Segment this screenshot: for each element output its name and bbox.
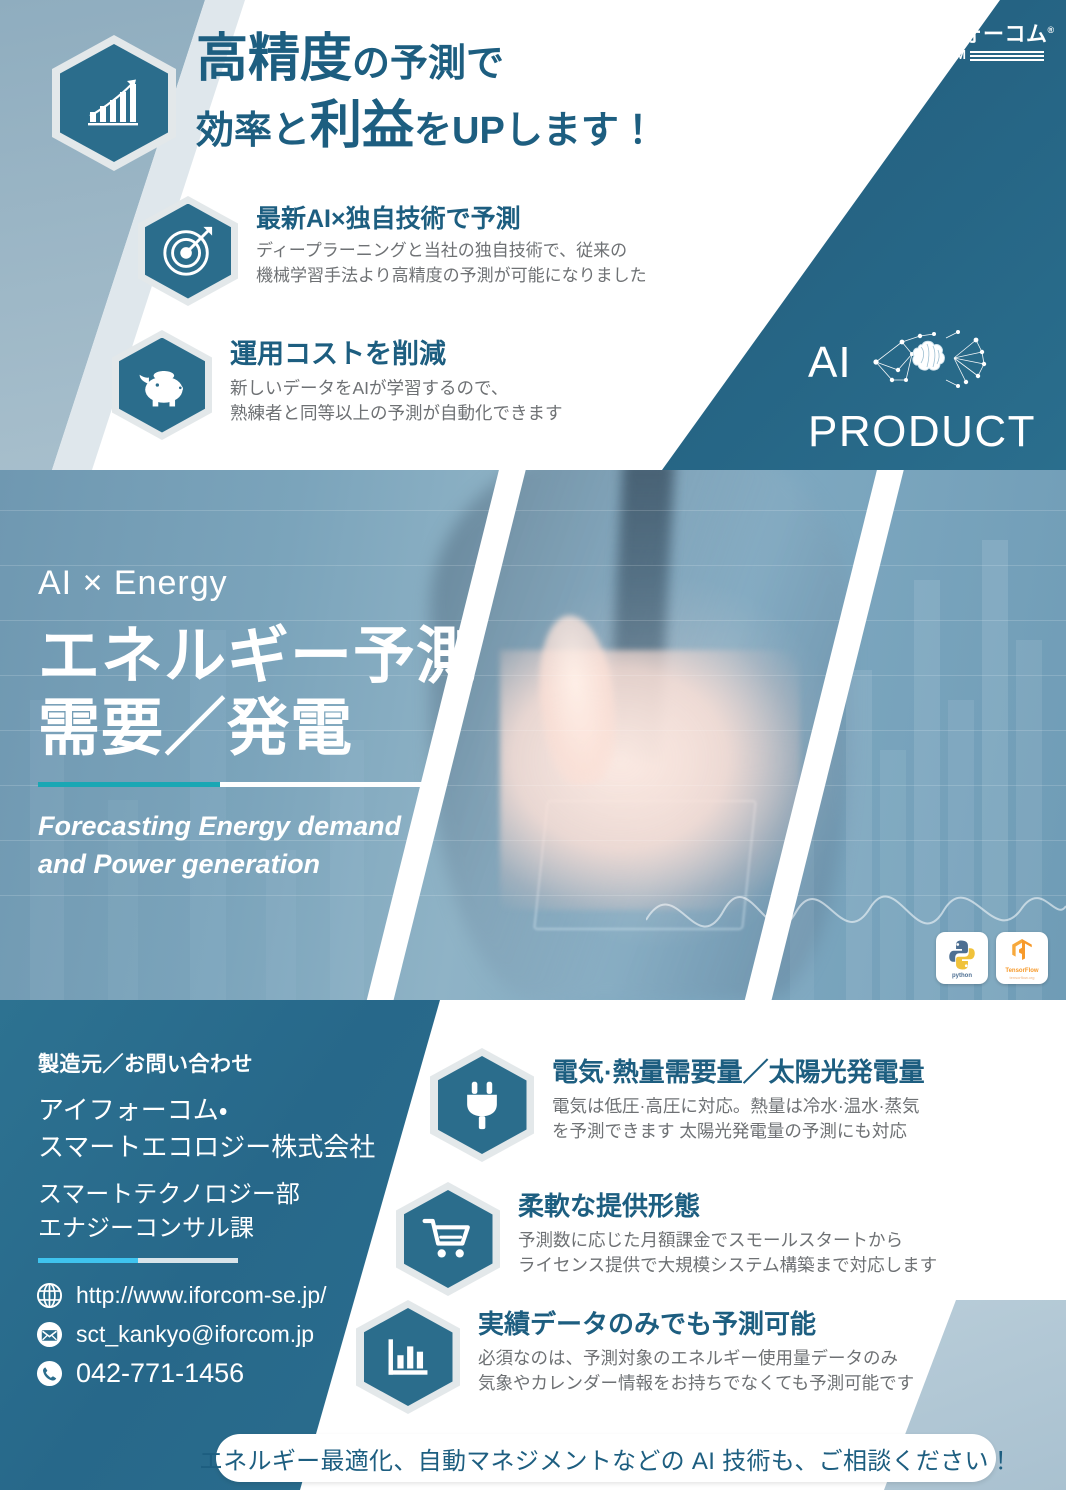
envelope-icon <box>36 1321 63 1348</box>
company-name-line-1: アイフォーコム・ <box>38 1092 375 1129</box>
contact-accent-rule <box>38 1258 238 1263</box>
hero-subtitle-line-1: Forecasting Energy demand <box>38 807 508 845</box>
hero-banner: AI × Energy エネルギー予測 需要／発電 Forecasting En… <box>0 470 1066 1000</box>
website-url[interactable]: http://www.iforcom-se.jp/ <box>76 1284 327 1307</box>
feature-power-demand: 電気·熱量需要量／太陽光発電量 電気は低圧·高圧に対応。熱量は冷水·温水·蒸気 … <box>430 1048 925 1162</box>
header-section: アイフォーコム® iFORCOM <box>0 0 1066 470</box>
hero-title-line-2: 需要／発電 <box>38 694 508 764</box>
logo-kana: アイフォーコム® <box>898 18 1044 47</box>
ai-product-badge: AI <box>808 330 1048 454</box>
headline-line-2: 効率と利益をUPします！ <box>196 93 756 160</box>
headline-line-1: 高精度の予測で <box>196 26 756 93</box>
feature-historical-data: 実績データのみでも予測可能 必須なのは、予測対象のエネルギー使用量データのみ 気… <box>356 1300 914 1414</box>
logo-roman: iFORCOM <box>898 48 967 62</box>
email-row[interactable]: sct_kankyo@iforcom.jp <box>36 1321 327 1348</box>
ai-product-line-2: PRODUCT <box>808 410 1048 454</box>
feature-title: 電気·熱量需要量／太陽光発電量 <box>552 1056 925 1089</box>
contact-section-label: 製造元／お問い合わせ <box>38 1048 253 1078</box>
registered-mark: ® <box>1047 25 1054 35</box>
neural-brain-icon <box>858 324 990 396</box>
feature-cost-reduction: 運用コストを削減 新しいデータをAIが学習するので、 熟練者と同等以上の予測が自… <box>112 330 563 440</box>
company-name: アイフォーコム・ スマートエコロジー株式会社 <box>38 1092 375 1166</box>
email-address[interactable]: sct_kankyo@iforcom.jp <box>76 1323 314 1346</box>
feature-body-line-2: 機械学習手法より高精度の予測が可能になりました <box>256 264 647 289</box>
tensorflow-logo-badge: TensorFlow tensorflow.org <box>996 932 1048 984</box>
tensorflow-badge-sublabel: tensorflow.org <box>1010 975 1035 980</box>
hero-copy: AI × Energy エネルギー予測 需要／発電 Forecasting En… <box>38 566 508 884</box>
cta-text: エネルギー最適化、自動マネジメントなどの AI 技術も、ご相談ください！ <box>199 1441 1013 1476</box>
bar-chart-icon <box>356 1300 460 1414</box>
piggy-bank-icon <box>112 330 212 440</box>
feature-body-line-2: 気象やカレンダー情報をお持ちでなくても予測可能です <box>478 1371 914 1396</box>
feature-title: 最新AI×独自技術で予測 <box>256 204 647 235</box>
logo-stripe-decor <box>970 50 1044 61</box>
target-dart-icon <box>138 196 238 306</box>
phone-icon <box>36 1360 63 1387</box>
company-name-line-2: スマートエコロジー株式会社 <box>38 1129 375 1166</box>
feature-body-line-1: 予測数に応じた月額課金でスモールスタートから <box>518 1228 937 1253</box>
brochure-page: アイフォーコム® iFORCOM <box>0 0 1066 1490</box>
footer-section: 製造元／お問い合わせ アイフォーコム・ スマートエコロジー株式会社 スマートテク… <box>0 1000 1066 1490</box>
feature-body-line-2: 熟練者と同等以上の予測が自動化できます <box>230 401 563 426</box>
hero-title-line-1: エネルギー予測 <box>38 622 508 692</box>
phone-row[interactable]: 042-771-1456 <box>36 1360 327 1387</box>
department-line-1: スマートテクノロジー部 <box>38 1178 300 1212</box>
power-plug-icon <box>430 1048 534 1162</box>
iforcom-c-mark-icon <box>854 22 894 64</box>
feature-body-line-1: 新しいデータをAIが学習するので、 <box>230 376 563 401</box>
python-badge-label: python <box>952 973 972 979</box>
phone-number[interactable]: 042-771-1456 <box>76 1360 244 1387</box>
feature-flexible-plan: 柔軟な提供形態 予測数に応じた月額課金でスモールスタートから ライセンス提供で大… <box>396 1182 937 1296</box>
ai-product-line-1: AI <box>808 341 852 385</box>
feature-body-line-1: 電気は低圧·高圧に対応。熱量は冷水·温水·蒸気 <box>552 1094 925 1119</box>
feature-title: 実績データのみでも予測可能 <box>478 1308 914 1341</box>
hero-accent-rule <box>38 782 426 787</box>
feature-body-line-2: ライセンス提供で大規模システム構築まで対応します <box>518 1253 937 1278</box>
feature-title: 運用コストを削減 <box>230 338 563 372</box>
feature-body-line-1: ディープラーニングと当社の独自技術で、従来の <box>256 239 647 264</box>
feature-body-line-2: を予測できます 太陽光発電量の予測にも対応 <box>552 1119 925 1144</box>
shopping-cart-icon <box>396 1182 500 1296</box>
contact-details: http://www.iforcom-se.jp/ sct_kankyo@ifo… <box>36 1282 327 1399</box>
feature-title: 柔軟な提供形態 <box>518 1190 937 1223</box>
feature-latest-ai: 最新AI×独自技術で予測 ディープラーニングと当社の独自技術で、従来の 機械学習… <box>138 196 647 306</box>
cta-banner[interactable]: エネルギー最適化、自動マネジメントなどの AI 技術も、ご相談ください！ <box>216 1434 996 1482</box>
department-name: スマートテクノロジー部 エナジーコンサル課 <box>38 1178 300 1246</box>
globe-icon <box>36 1282 63 1309</box>
feature-body-line-1: 必須なのは、予測対象のエネルギー使用量データのみ <box>478 1346 914 1371</box>
hero-subtitle-line-2: and Power generation <box>38 845 508 883</box>
tensorflow-badge-label: TensorFlow <box>1005 968 1038 974</box>
website-row[interactable]: http://www.iforcom-se.jp/ <box>36 1282 327 1309</box>
technology-badges: python TensorFlow tensorflow.org <box>936 932 1048 984</box>
python-logo-badge: python <box>936 932 988 984</box>
page-headline: 高精度の予測で 効率と利益をUPします！ <box>196 26 756 159</box>
hero-eyebrow: AI × Energy <box>38 566 508 600</box>
growth-bar-chart-icon <box>52 35 176 171</box>
company-logo[interactable]: アイフォーコム® iFORCOM <box>854 18 1044 70</box>
department-line-2: エナジーコンサル課 <box>38 1212 300 1246</box>
logo-wordmark: アイフォーコム® iFORCOM <box>898 18 1044 62</box>
